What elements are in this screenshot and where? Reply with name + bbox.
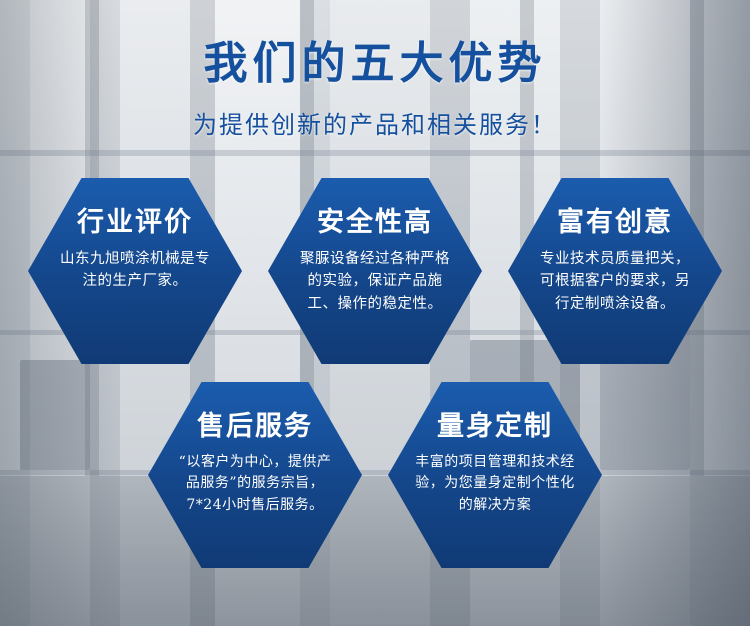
hex-card-industry-reputation[interactable]: 行业评价 山东九旭喷涂机械是专注的生产厂家。 (28, 178, 242, 364)
page-title: 我们的五大优势 (0, 38, 750, 91)
hex-description: 聚脲设备经过各种严格的实验，保证产品施工、操作的稳定性。 (294, 248, 456, 315)
hex-description: “以客户为中心，提供产品服务”的服务宗旨，7*24小时售后服务。 (174, 452, 336, 517)
page-subtitle: 为提供创新的产品和相关服务！ (0, 105, 750, 140)
hex-title: 售后服务 (174, 412, 336, 442)
hex-title: 行业评价 (54, 208, 216, 238)
hex-description: 丰富的项目管理和技术经验，为您量身定制个性化的解决方案 (414, 452, 576, 517)
hex-card-creative[interactable]: 富有创意 专业技术员质量把关，可根据客户的要求，另行定制喷涂设备。 (508, 178, 722, 364)
hex-title: 安全性高 (294, 208, 456, 238)
hex-description: 山东九旭喷涂机械是专注的生产厂家。 (54, 248, 216, 293)
hex-title: 富有创意 (534, 208, 696, 238)
hex-description: 专业技术员质量把关，可根据客户的要求，另行定制喷涂设备。 (534, 248, 696, 315)
hex-card-tailor-made[interactable]: 量身定制 丰富的项目管理和技术经验，为您量身定制个性化的解决方案 (388, 382, 602, 568)
hex-card-after-sales-service[interactable]: 售后服务 “以客户为中心，提供产品服务”的服务宗旨，7*24小时售后服务。 (148, 382, 362, 568)
hex-card-high-safety[interactable]: 安全性高 聚脲设备经过各种严格的实验，保证产品施工、操作的稳定性。 (268, 178, 482, 364)
heading-block: 我们的五大优势 为提供创新的产品和相关服务！ (0, 38, 750, 140)
hex-title: 量身定制 (414, 412, 576, 442)
advantages-banner: 我们的五大优势 为提供创新的产品和相关服务！ 行业评价 山东九旭喷涂机械是专注的… (0, 0, 750, 626)
